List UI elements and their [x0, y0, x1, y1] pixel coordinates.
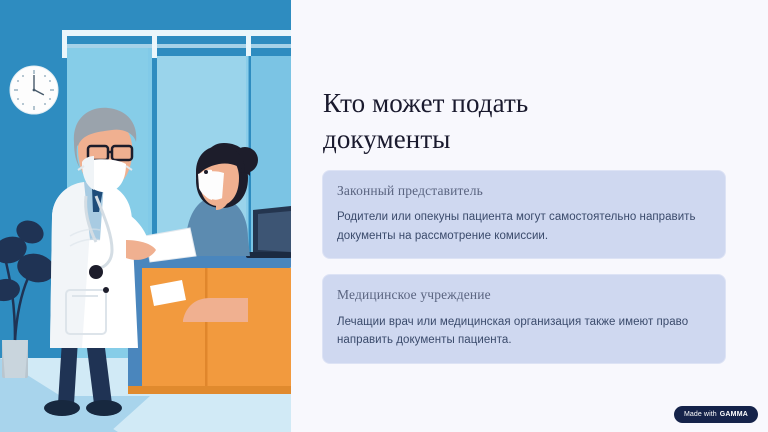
content-panel: Кто может подать документы Законный пред…: [291, 0, 768, 432]
doctor-shoe-right: [86, 400, 122, 416]
badge-prefix-label: Made with: [684, 411, 717, 418]
info-card-title: Законный представитель: [337, 183, 711, 199]
info-card-body: Лечащии врач или медицинская организация…: [337, 313, 711, 350]
page-title-line-2: документы: [323, 124, 450, 154]
page-title: Кто может подать документы: [323, 86, 623, 158]
clinic-reception-illustration: [0, 0, 291, 432]
made-with-gamma-badge[interactable]: Made with GAMMA: [674, 406, 758, 423]
wall-clock-icon: [10, 66, 58, 114]
info-card-medical-institution: Медицинское учреждение Лечащии врач или …: [322, 274, 726, 363]
info-card-title: Медицинское учреждение: [337, 287, 711, 303]
doctor-shoe-left: [44, 400, 80, 416]
stethoscope-chestpiece: [89, 265, 103, 279]
info-card-list: Законный представитель Родители или опек…: [322, 170, 726, 364]
badge-brand-label: GAMMA: [720, 411, 748, 418]
page-title-line-1: Кто может подать: [323, 88, 528, 118]
illustration-svg: [0, 0, 291, 432]
info-card-body: Родители или опекуны пациента могут само…: [337, 208, 711, 245]
info-card-legal-representative: Законный представитель Родители или опек…: [322, 170, 726, 259]
slide: Кто может подать документы Законный пред…: [0, 0, 768, 432]
